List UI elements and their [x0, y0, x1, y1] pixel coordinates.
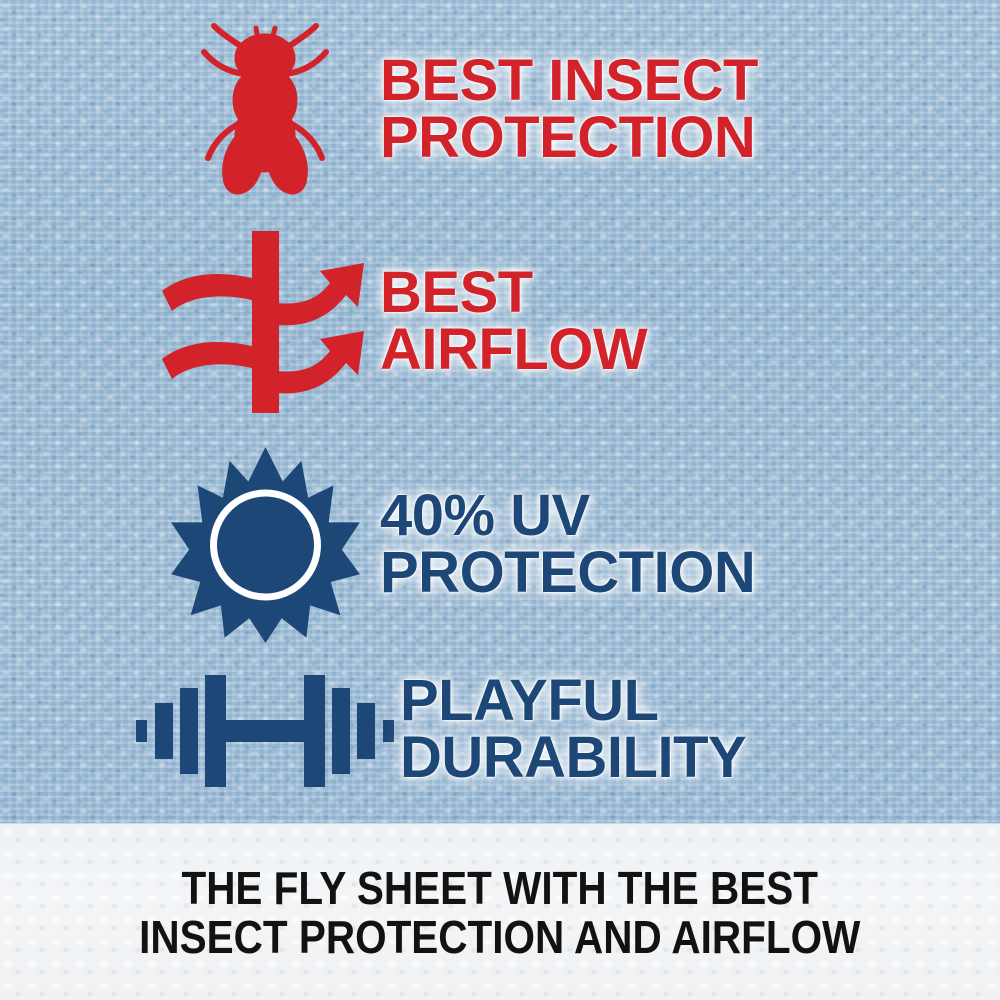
- feature-row-uv-protection: 40% UV PROTECTION: [150, 440, 950, 650]
- feature-label-insect-protection: BEST INSECT PROTECTION: [380, 53, 758, 167]
- feature-row-airflow: BEST AIRFLOW: [150, 222, 950, 422]
- feature-icon-cell: [130, 655, 400, 805]
- caption-banner: THE FLY SHEET WITH THE BEST INSECT PROTE…: [0, 823, 1000, 1000]
- feature-text-cell: 40% UV PROTECTION: [380, 488, 755, 602]
- fly-icon: [190, 18, 340, 203]
- feature-label-airflow: BEST AIRFLOW: [380, 265, 647, 379]
- feature-icon-cell: [150, 222, 380, 422]
- feature-text-cell: PLAYFUL DURABILITY: [400, 673, 746, 787]
- feature-label-durability: PLAYFUL DURABILITY: [400, 673, 746, 787]
- caption-text: THE FLY SHEET WITH THE BEST INSECT PROTE…: [139, 864, 860, 961]
- feature-text-cell: BEST AIRFLOW: [380, 265, 647, 379]
- infographic-canvas: BEST INSECT PROTECTION: [0, 0, 1000, 1000]
- airflow-barrier-icon: [158, 231, 373, 413]
- feature-label-uv-protection: 40% UV PROTECTION: [380, 488, 755, 602]
- feature-text-cell: BEST INSECT PROTECTION: [380, 53, 758, 167]
- feature-icon-cell: [150, 10, 380, 210]
- feature-row-insect-protection: BEST INSECT PROTECTION: [150, 10, 950, 210]
- feature-icon-cell: [150, 440, 380, 650]
- dumbbell-icon: [134, 665, 396, 795]
- sun-starburst: [171, 447, 360, 643]
- sun-uv-icon: [163, 445, 368, 645]
- feature-row-durability: PLAYFUL DURABILITY: [130, 655, 950, 805]
